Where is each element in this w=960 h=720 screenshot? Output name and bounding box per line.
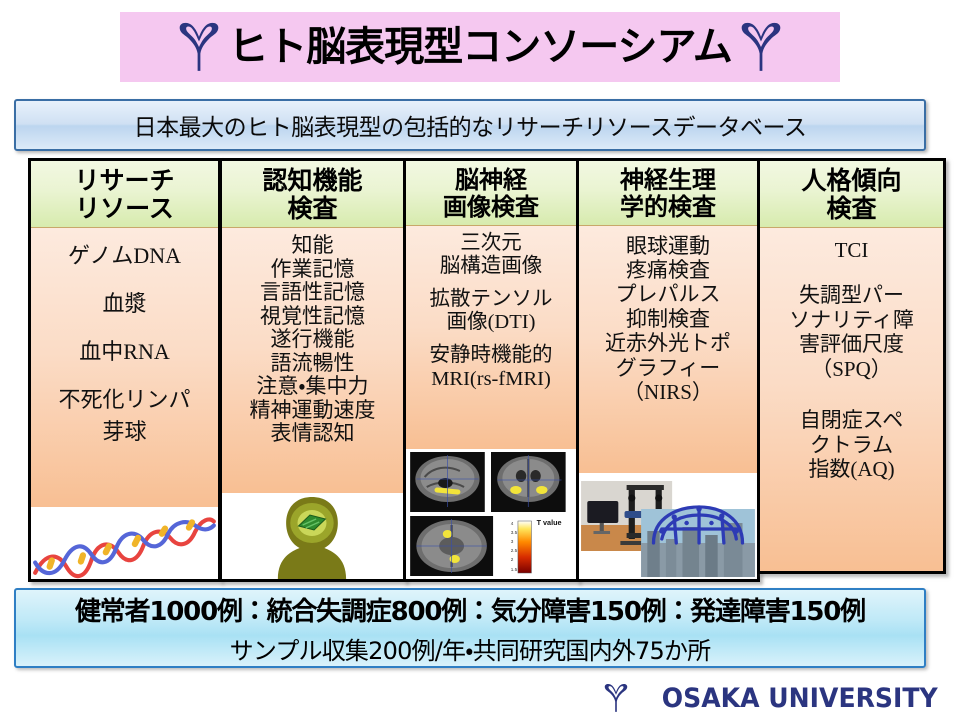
column-header-line: 神経生理 — [579, 167, 757, 194]
head-silhouette-cognition-image — [222, 493, 403, 579]
category-column-personality: 人格傾向 検査 TCI 失調型パー ソナリティ障 害評価尺度 （SPQ） 自閉症… — [757, 158, 946, 574]
subtitle-text: 日本最大のヒト脳表現型の包括的なリサーチリソースデータベース — [134, 108, 807, 142]
column-item: 害評価尺度 — [760, 332, 943, 357]
column-item: 注意・集中力 — [222, 375, 403, 399]
column-item: 血中RNA — [31, 334, 218, 366]
osaka-university-logo-icon — [176, 21, 222, 73]
column-item: 語流暢性 — [222, 352, 403, 376]
column-item: TCI — [760, 238, 943, 263]
category-column-neurophysiology: 神経生理 学的検査 眼球運動 疼痛検査 プレパルス 抑制検査 近赤外光トポ グラ… — [576, 158, 760, 582]
column-item: 指数(AQ) — [760, 457, 943, 482]
subtitle-banner: 日本最大のヒト脳表現型の包括的なリサーチリソースデータベース — [14, 99, 926, 151]
svg-text:3.5: 3.5 — [511, 530, 518, 535]
column-item: 疼痛検査 — [579, 258, 757, 282]
column-item: プレパルス — [579, 282, 757, 306]
column-item-block: 失調型パー ソナリティ障 害評価尺度 （SPQ） — [760, 283, 943, 382]
column-item: 安静時機能的 — [406, 344, 576, 368]
column-item: 芽球 — [31, 414, 218, 446]
dna-double-helix-image — [31, 507, 218, 579]
column-body: 知能 作業記憶 言語性記憶 視覚性記憶 遂行機能 語流暢性 注意・集中力 精神運… — [222, 228, 403, 493]
svg-text:2.5: 2.5 — [511, 548, 518, 553]
column-header-line: 画像検査 — [406, 194, 576, 221]
svg-text:4: 4 — [511, 521, 514, 526]
column-item: 抑制検査 — [579, 307, 757, 331]
column-item: 画像(DTI) — [406, 311, 576, 335]
column-header: 脳神経 画像検査 — [406, 161, 576, 226]
summary-banner: 健常者1000例：統合失調症800例：気分障害150例：発達障害150例 サンプ… — [14, 588, 926, 668]
mri-slices-illustration: T value 43.53 2.521.5 — [406, 449, 576, 579]
column-item: 近赤外光トポ — [579, 331, 757, 355]
column-item: 脳構造画像 — [406, 255, 576, 279]
column-item: 視覚性記憶 — [222, 305, 403, 329]
column-header-line: リサーチ — [31, 167, 218, 195]
svg-text:1.5: 1.5 — [511, 567, 518, 572]
column-item: 三次元 — [406, 232, 576, 256]
column-item: （NIRS） — [579, 380, 757, 404]
osaka-university-logo-icon — [599, 683, 633, 713]
spacer — [760, 382, 943, 408]
column-item: 作業記憶 — [222, 258, 403, 282]
column-header-line: 検査 — [760, 195, 943, 223]
column-item: 言語性記憶 — [222, 281, 403, 305]
page-title: ヒト脳表現型コンソーシアム — [228, 27, 731, 67]
column-header: リサーチ リソース — [31, 161, 218, 228]
column-item-block: TCI — [760, 238, 943, 263]
column-item-block: 拡散テンソル 画像(DTI) — [406, 288, 576, 335]
column-item: ソナリティ障 — [760, 308, 943, 333]
column-header-line: 脳神経 — [406, 167, 576, 194]
column-header-line: 認知機能 — [222, 167, 403, 195]
osaka-university-logo-icon — [738, 21, 784, 73]
column-header-line: リソース — [31, 195, 218, 223]
column-item: 知能 — [222, 234, 403, 258]
column-item-block: 自閉症スペ クトラム 指数(AQ) — [760, 408, 943, 482]
column-item-block: 三次元 脳構造画像 — [406, 232, 576, 279]
column-item: グラフィー — [579, 356, 757, 380]
svg-text:3: 3 — [511, 539, 514, 544]
svg-text:2: 2 — [511, 557, 514, 562]
column-item: 自閉症スペ — [760, 408, 943, 433]
column-body: 眼球運動 疼痛検査 プレパルス 抑制検査 近赤外光トポ グラフィー （NIRS） — [579, 226, 757, 473]
column-item: （SPQ） — [760, 357, 943, 382]
column-header-line: 検査 — [222, 195, 403, 223]
column-item: 不死化リンパ — [31, 382, 218, 414]
column-item: 精神運動速度 — [222, 399, 403, 423]
column-item: 拡散テンソル — [406, 288, 576, 312]
footer: OSAKA UNIVERSITY — [0, 676, 960, 720]
spacer — [760, 263, 943, 283]
summary-line-2: サンプル収集200例/年・共同研究国内外75か所 — [230, 631, 711, 666]
nirs-equipment-photos-image — [579, 473, 757, 579]
category-column-research-resource: リサーチ リソース ゲノムDNA 血漿 血中RNA 不死化リンパ 芽球 — [28, 158, 221, 582]
column-header-line: 学的検査 — [579, 194, 757, 221]
column-header: 神経生理 学的検査 — [579, 161, 757, 226]
column-item: 失調型パー — [760, 283, 943, 308]
column-header-line: 人格傾向 — [760, 167, 943, 195]
category-column-cognitive-function: 認知機能 検査 知能 作業記憶 言語性記憶 視覚性記憶 遂行機能 語流暢性 注意… — [219, 158, 406, 582]
column-item: 表情認知 — [222, 422, 403, 446]
column-item: 眼球運動 — [579, 234, 757, 258]
footer-brand-text: OSAKA UNIVERSITY — [662, 683, 938, 714]
column-header: 人格傾向 検査 — [760, 161, 943, 228]
dna-helix-illustration — [31, 507, 218, 579]
category-column-brain-imaging: 脳神経 画像検査 三次元 脳構造画像 拡散テンソル 画像(DTI) 安静時機能的… — [403, 158, 579, 582]
summary-line-1: 健常者1000例：統合失調症800例：気分障害150例：発達障害150例 — [75, 591, 865, 628]
column-header: 認知機能 検査 — [222, 161, 403, 228]
column-item: 遂行機能 — [222, 328, 403, 352]
column-item-block: 安静時機能的 MRI(rs-fMRI) — [406, 344, 576, 391]
nirs-equipment-illustration — [579, 473, 757, 579]
column-item: 血漿 — [31, 286, 218, 318]
column-item: クトラム — [760, 433, 943, 458]
column-item: MRI(rs-fMRI) — [406, 368, 576, 392]
column-body: TCI 失調型パー ソナリティ障 害評価尺度 （SPQ） 自閉症スペ クトラム … — [760, 228, 943, 571]
mri-colorbar-legend-label: T value — [537, 519, 562, 527]
column-body: 三次元 脳構造画像 拡散テンソル 画像(DTI) 安静時機能的 MRI(rs-f… — [406, 226, 576, 449]
title-banner: ヒト脳表現型コンソーシアム — [120, 12, 840, 82]
mri-brain-slices-image: T value 43.53 2.521.5 — [406, 449, 576, 579]
head-silhouette-illustration — [222, 493, 403, 579]
column-item: ゲノムDNA — [31, 238, 218, 270]
column-body: ゲノムDNA 血漿 血中RNA 不死化リンパ 芽球 — [31, 228, 218, 507]
